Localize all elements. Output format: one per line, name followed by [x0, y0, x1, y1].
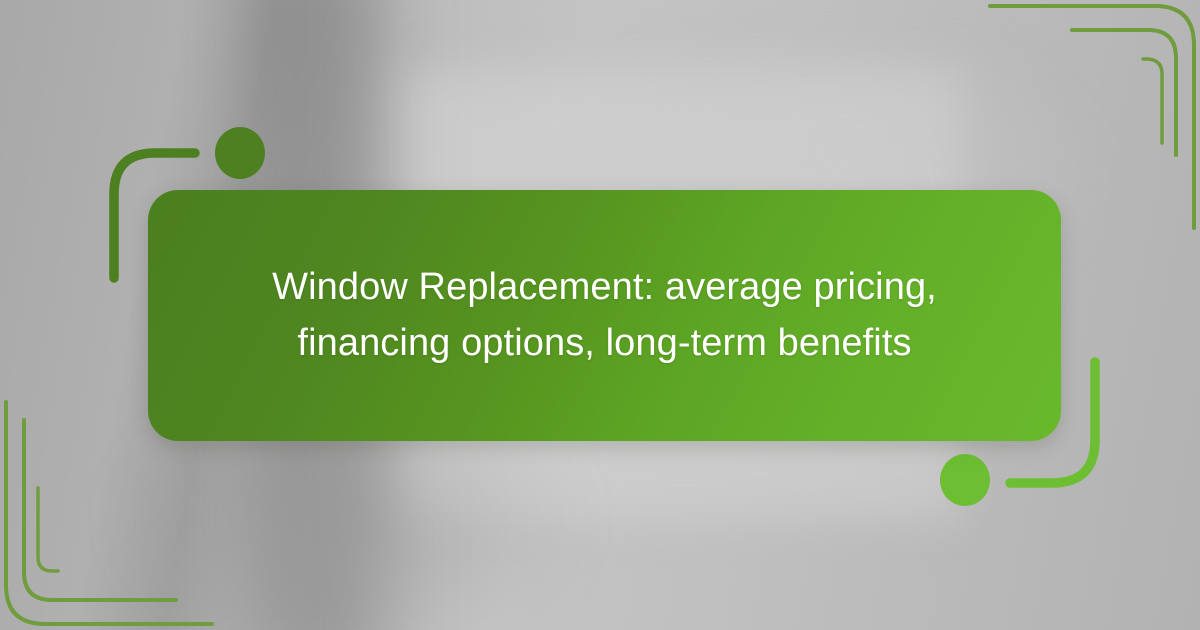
headline-card: Window Replacement: average pricing, fin…	[148, 190, 1061, 441]
promo-card-canvas: Window Replacement: average pricing, fin…	[0, 0, 1200, 630]
background-shadow-bottom	[120, 430, 580, 630]
card-title: Window Replacement: average pricing, fin…	[265, 260, 945, 370]
